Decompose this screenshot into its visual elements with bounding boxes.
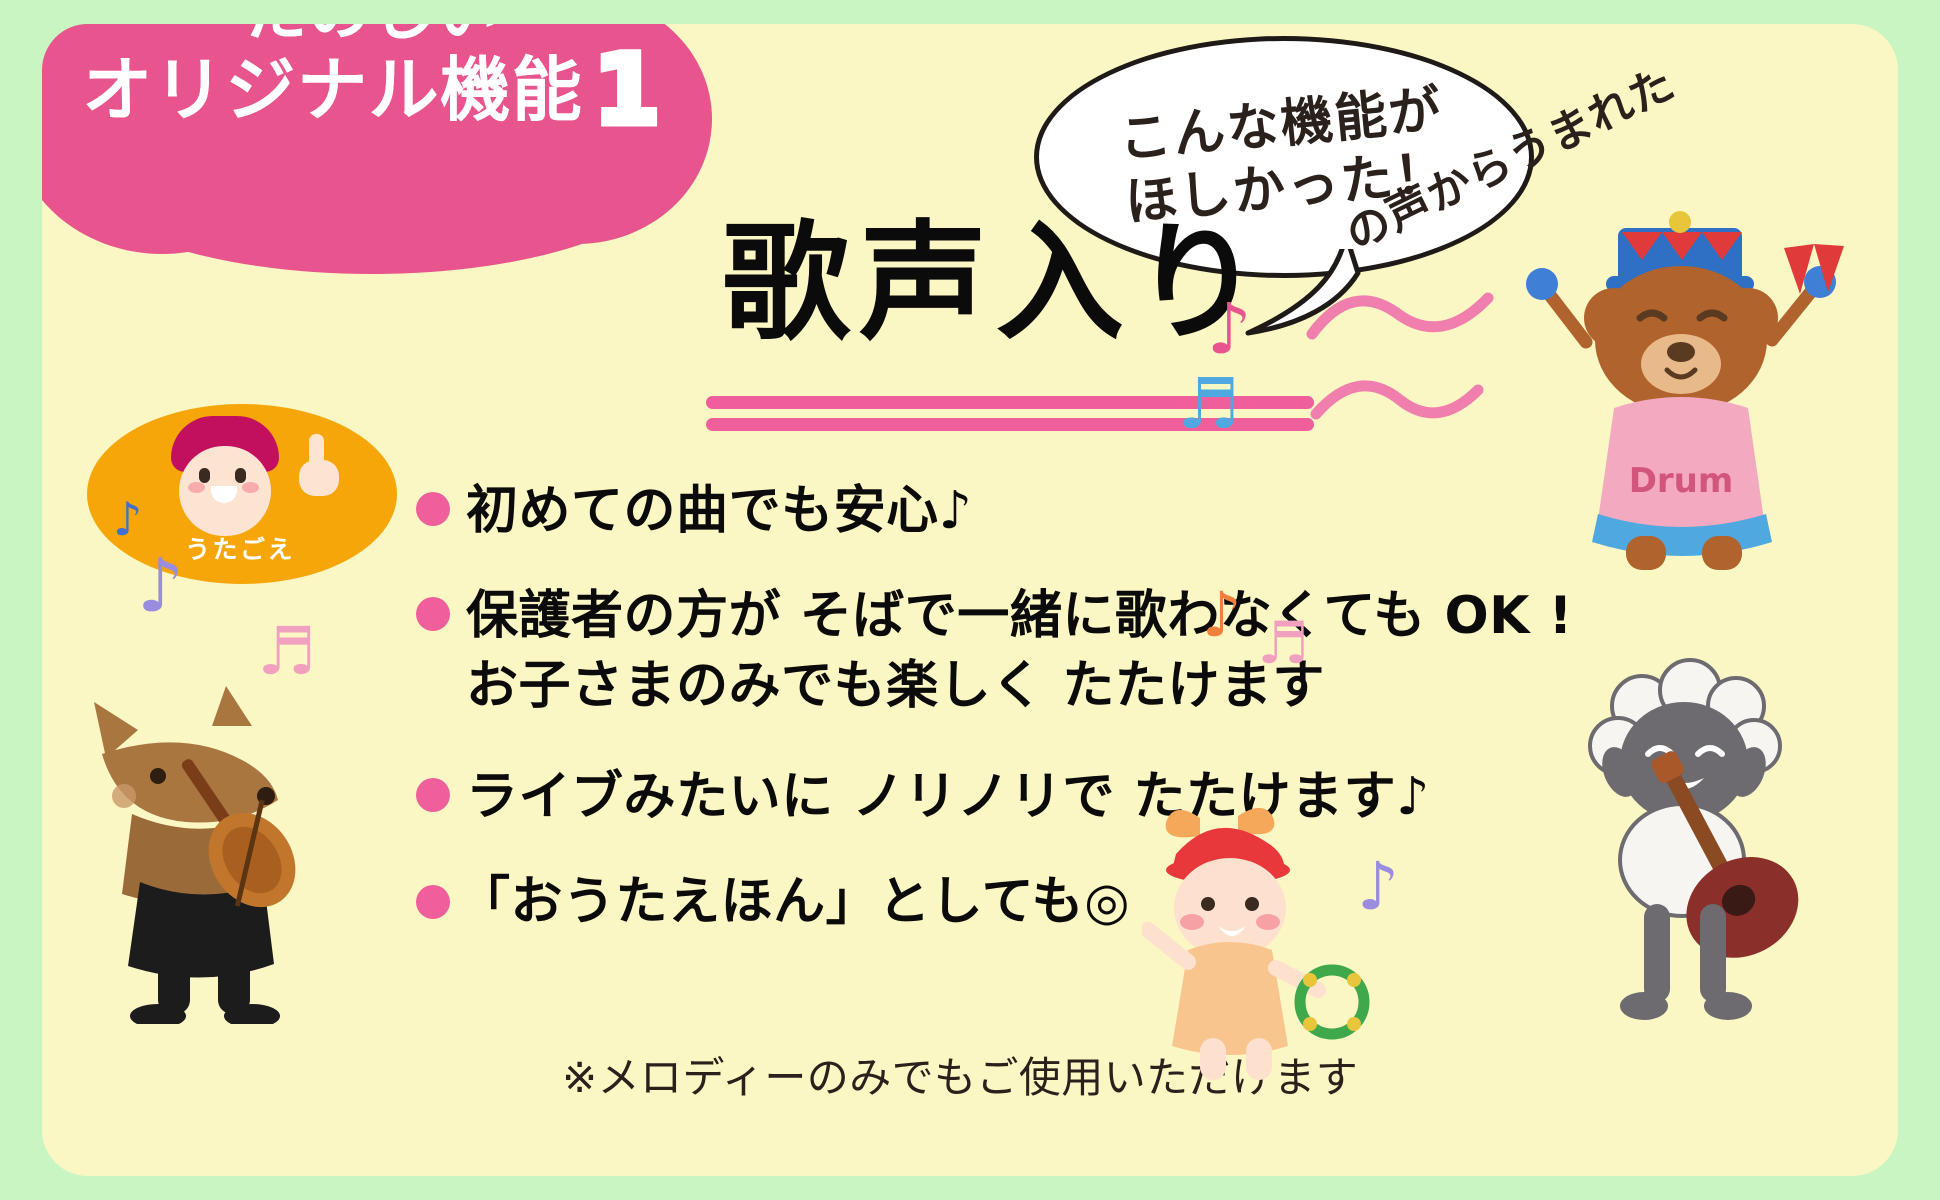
wolf-violinist-illustration [62,684,362,1024]
poster-card: たのしい オリジナル機能 1 こんな機能が ほしかった！ の声からうまれた 歌声… [42,24,1898,1176]
utagoe-face-icon [159,416,291,542]
bullet-dot-icon [416,492,450,526]
utagoe-cheek-right [242,482,259,493]
list-item: 「おうたえほん」としても◎ [416,867,1646,938]
pink-swirl-icon [1302,274,1522,464]
sheep-guitarist-illustration [1532,654,1862,1024]
baby-tambourine-illustration [1142,784,1382,1084]
list-item: ライブみたいに ノリノリで たたけます♪ [416,762,1646,833]
badge-line2-row: オリジナル機能 1 [52,47,692,133]
utagoe-eye-left [199,468,210,483]
bear-drummer-illustration: Drum [1522,192,1852,572]
bullet-dot-icon [416,885,450,919]
list-item-text: 保護者の方が そばで一緒に歌わなくても OK ! [466,581,1573,652]
list-item-text: 初めての曲でも安心♪ [466,476,972,547]
list-item-text: 「おうたえほん」としても◎ [458,867,1130,938]
list-item: 初めての曲でも安心♪ [416,476,1646,547]
poster: たのしい オリジナル機能 1 こんな機能が ほしかった！ の声からうまれた 歌声… [0,0,1940,1200]
music-note-icon: ♬ [1257,614,1309,672]
utagoe-note-icon: ♪ [113,492,142,546]
music-note-icon: ♪ [1357,854,1399,920]
page-title: 歌声入り [722,220,1270,348]
badge-line2: オリジナル機能 [82,51,583,129]
music-note-icon: ♬ [1177,369,1240,439]
list-item-text-2: お子さまのみでも楽しく たたけます [466,651,1573,722]
utagoe-eye-right [235,468,246,483]
bullet-dot-icon [416,778,450,812]
music-note-icon: ♬ [257,619,316,685]
list-item: 保護者の方が そばで一緒に歌わなくても OK ! お子さまのみでも楽しく たたけ… [416,581,1646,722]
badge-text: たのしい オリジナル機能 1 [52,24,692,134]
utagoe-cheek-left [188,482,205,493]
badge-number: 1 [593,47,661,133]
music-note-icon: ♪ [137,549,184,623]
pointing-hand-icon [293,432,349,502]
music-note-icon: ♪ [1202,584,1242,646]
feature-list: 初めての曲でも安心♪ 保護者の方が そばで一緒に歌わなくても OK ! お子さま… [416,476,1646,972]
music-note-icon: ♪ [1207,294,1252,364]
svg-text:Drum: Drum [1629,461,1734,501]
utagoe-mark: ♪ うたごえ [87,404,397,584]
bullet-dot-icon [416,597,450,631]
badge-cloud: たのしい オリジナル機能 1 [42,24,752,324]
